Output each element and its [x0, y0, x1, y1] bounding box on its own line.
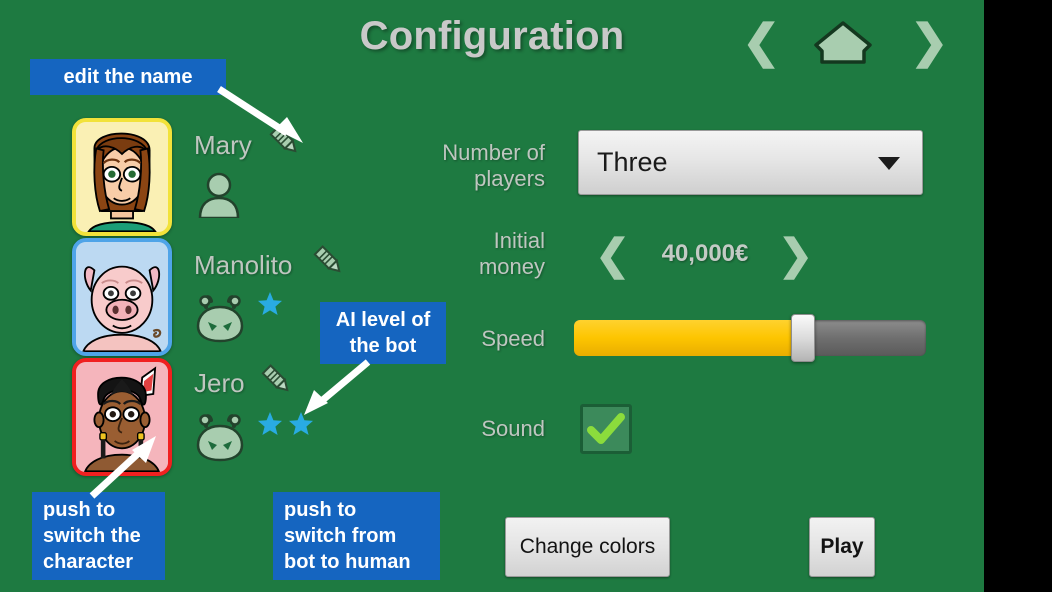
avatar[interactable] — [72, 238, 172, 356]
player-name[interactable]: Jero — [194, 368, 245, 399]
native-avatar — [76, 362, 168, 472]
label-line: Number of — [330, 140, 545, 166]
callout-switch-character: push to switch the character — [32, 492, 165, 580]
initial-money-label: Initial money — [330, 228, 545, 280]
sound-checkbox[interactable] — [580, 404, 632, 454]
ai-star — [257, 411, 283, 437]
player-name[interactable]: Mary — [194, 130, 252, 161]
player-type-toggle[interactable] — [194, 172, 244, 218]
header-prev-button[interactable]: ❮ — [742, 13, 781, 69]
pencil-icon[interactable] — [258, 360, 296, 398]
play-button[interactable]: Play — [809, 517, 875, 577]
avatar[interactable] — [72, 358, 172, 476]
woman-avatar — [76, 122, 168, 232]
callout-line: switch from — [284, 523, 429, 549]
callout-line: switch the — [43, 523, 154, 549]
player-name[interactable]: Manolito — [194, 250, 292, 281]
screen-root: Configuration ❮ ❯ — [0, 0, 1052, 592]
bot-icon — [193, 410, 247, 464]
callout-line: the bot — [331, 333, 435, 359]
change-colors-button[interactable]: Change colors — [505, 517, 670, 577]
player-type-toggle[interactable] — [193, 291, 247, 345]
callout-edit-name: edit the name — [30, 59, 226, 95]
money-increase-button[interactable]: ❯ — [778, 230, 813, 280]
callout-line: bot to human — [284, 549, 429, 575]
callout-line: character — [43, 549, 154, 575]
speed-slider[interactable] — [574, 320, 926, 356]
avatar[interactable] — [72, 118, 172, 236]
bot-icon — [193, 291, 247, 345]
number-of-players-select[interactable]: Three — [578, 130, 923, 195]
header-home-button[interactable] — [812, 18, 874, 66]
callout-ai-level: AI level of the bot — [320, 302, 446, 364]
speed-slider-fill — [574, 320, 803, 356]
ai-star — [288, 411, 314, 437]
speed-slider-thumb[interactable] — [791, 314, 815, 362]
check-icon — [583, 407, 629, 451]
callout-arrow — [292, 358, 372, 418]
select-value: Three — [597, 147, 668, 178]
label-line: players — [330, 166, 545, 192]
sound-label: Sound — [330, 416, 545, 442]
label-line: Initial — [330, 228, 545, 254]
person-icon — [194, 172, 244, 218]
player-type-toggle[interactable] — [193, 410, 247, 464]
callout-line: AI level of — [331, 307, 435, 333]
callout-switch-bot: push to switch from bot to human play! — [273, 492, 440, 580]
ai-star — [257, 291, 283, 317]
home-icon — [812, 18, 874, 66]
number-of-players-label: Number of players — [330, 140, 545, 192]
callout-line: push to — [284, 497, 429, 523]
chevron-down-icon — [878, 157, 900, 170]
label-line: money — [330, 254, 545, 280]
header-next-button[interactable]: ❯ — [910, 13, 949, 69]
pig-avatar — [76, 242, 168, 352]
initial-money-value: 40,000€ — [620, 240, 790, 268]
callout-line: push to — [43, 497, 154, 523]
app-container: Configuration ❮ ❯ — [0, 0, 984, 592]
pencil-icon[interactable] — [266, 121, 304, 159]
